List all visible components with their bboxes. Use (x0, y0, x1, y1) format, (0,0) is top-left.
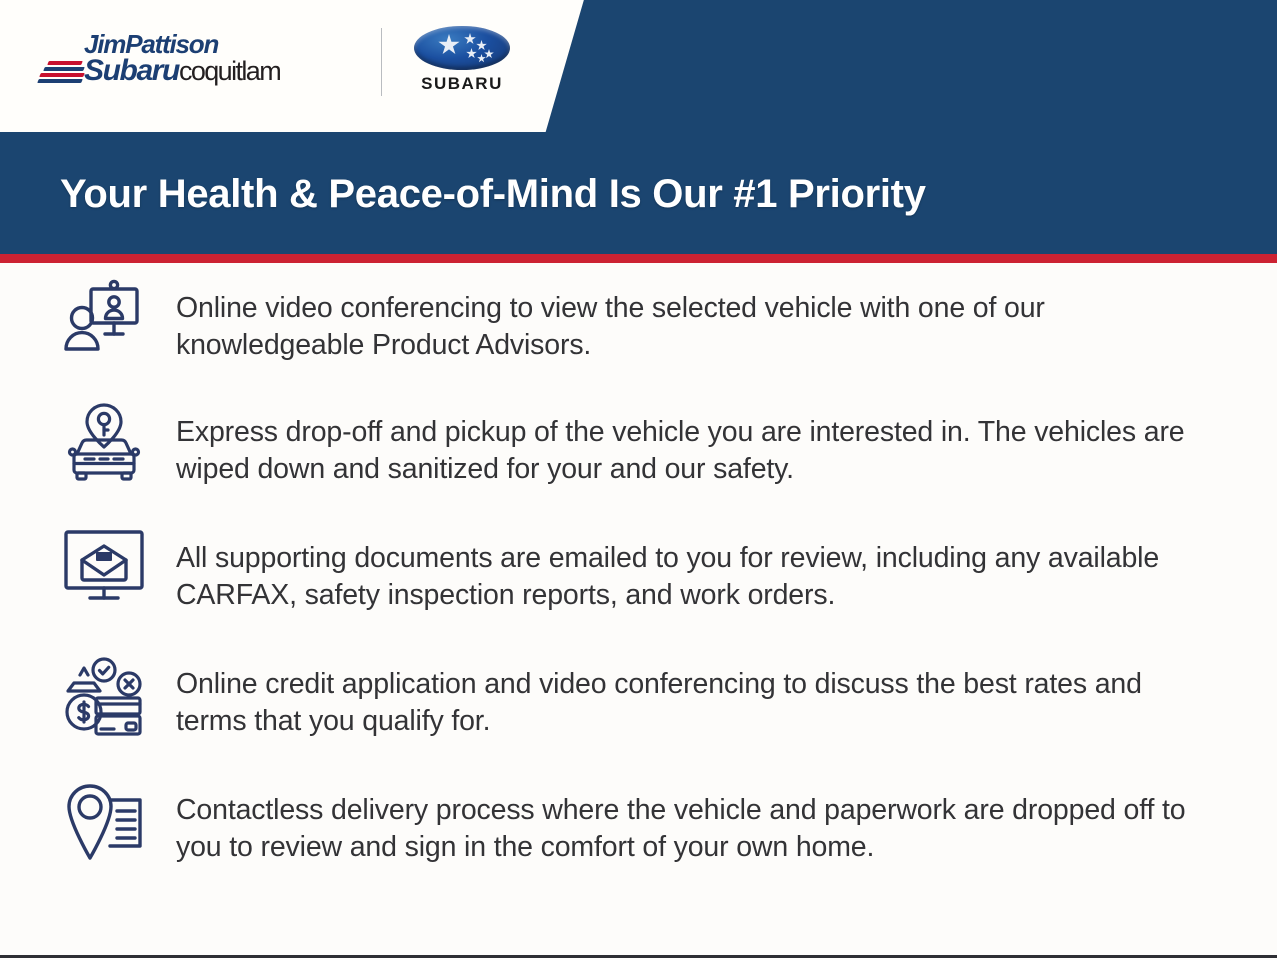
monitor-email-icon (60, 522, 148, 610)
subaru-oval-icon (414, 26, 510, 70)
subaru-logo[interactable]: SUBARU (406, 26, 518, 96)
red-divider (0, 254, 1277, 263)
feature-item: Express drop-off and pickup of the vehic… (0, 396, 1277, 522)
dealer-logo[interactable]: JimPattison Subarucoquitlam (38, 30, 358, 92)
dealer-logo-stripes-icon (38, 60, 86, 86)
feature-text: Contactless delivery process where the v… (148, 774, 1193, 866)
money-credit-card-icon (60, 648, 148, 736)
feature-text: All supporting documents are emailed to … (148, 522, 1193, 614)
dealer-logo-line2: Subarucoquitlam (84, 55, 280, 92)
subaru-wordmark: SUBARU (406, 74, 518, 94)
bottom-divider (0, 955, 1277, 958)
promo-page: JimPattison Subarucoquitlam SUBARU (0, 0, 1277, 960)
feature-item: All supporting documents are emailed to … (0, 522, 1277, 648)
location-pin-document-icon (60, 774, 148, 862)
logo-divider (381, 28, 382, 96)
logo-panel: JimPattison Subarucoquitlam SUBARU (0, 0, 584, 132)
feature-item: Contactless delivery process where the v… (0, 774, 1277, 924)
video-conference-icon (60, 272, 148, 360)
feature-text: Online video conferencing to view the se… (148, 272, 1193, 364)
feature-item: Online credit application and video conf… (0, 648, 1277, 774)
feature-text: Express drop-off and pickup of the vehic… (148, 396, 1193, 488)
dealer-logo-coquitlam-word: coquitlam (179, 56, 280, 86)
feature-text: Online credit application and video conf… (148, 648, 1193, 740)
feature-list: Online video conferencing to view the se… (0, 272, 1277, 924)
feature-item: Online video conferencing to view the se… (0, 272, 1277, 396)
car-key-dropoff-icon (60, 396, 148, 484)
dealer-logo-subaru-word: Subaru (84, 54, 179, 87)
page-title: Your Health & Peace-of-Mind Is Our #1 Pr… (60, 172, 926, 217)
